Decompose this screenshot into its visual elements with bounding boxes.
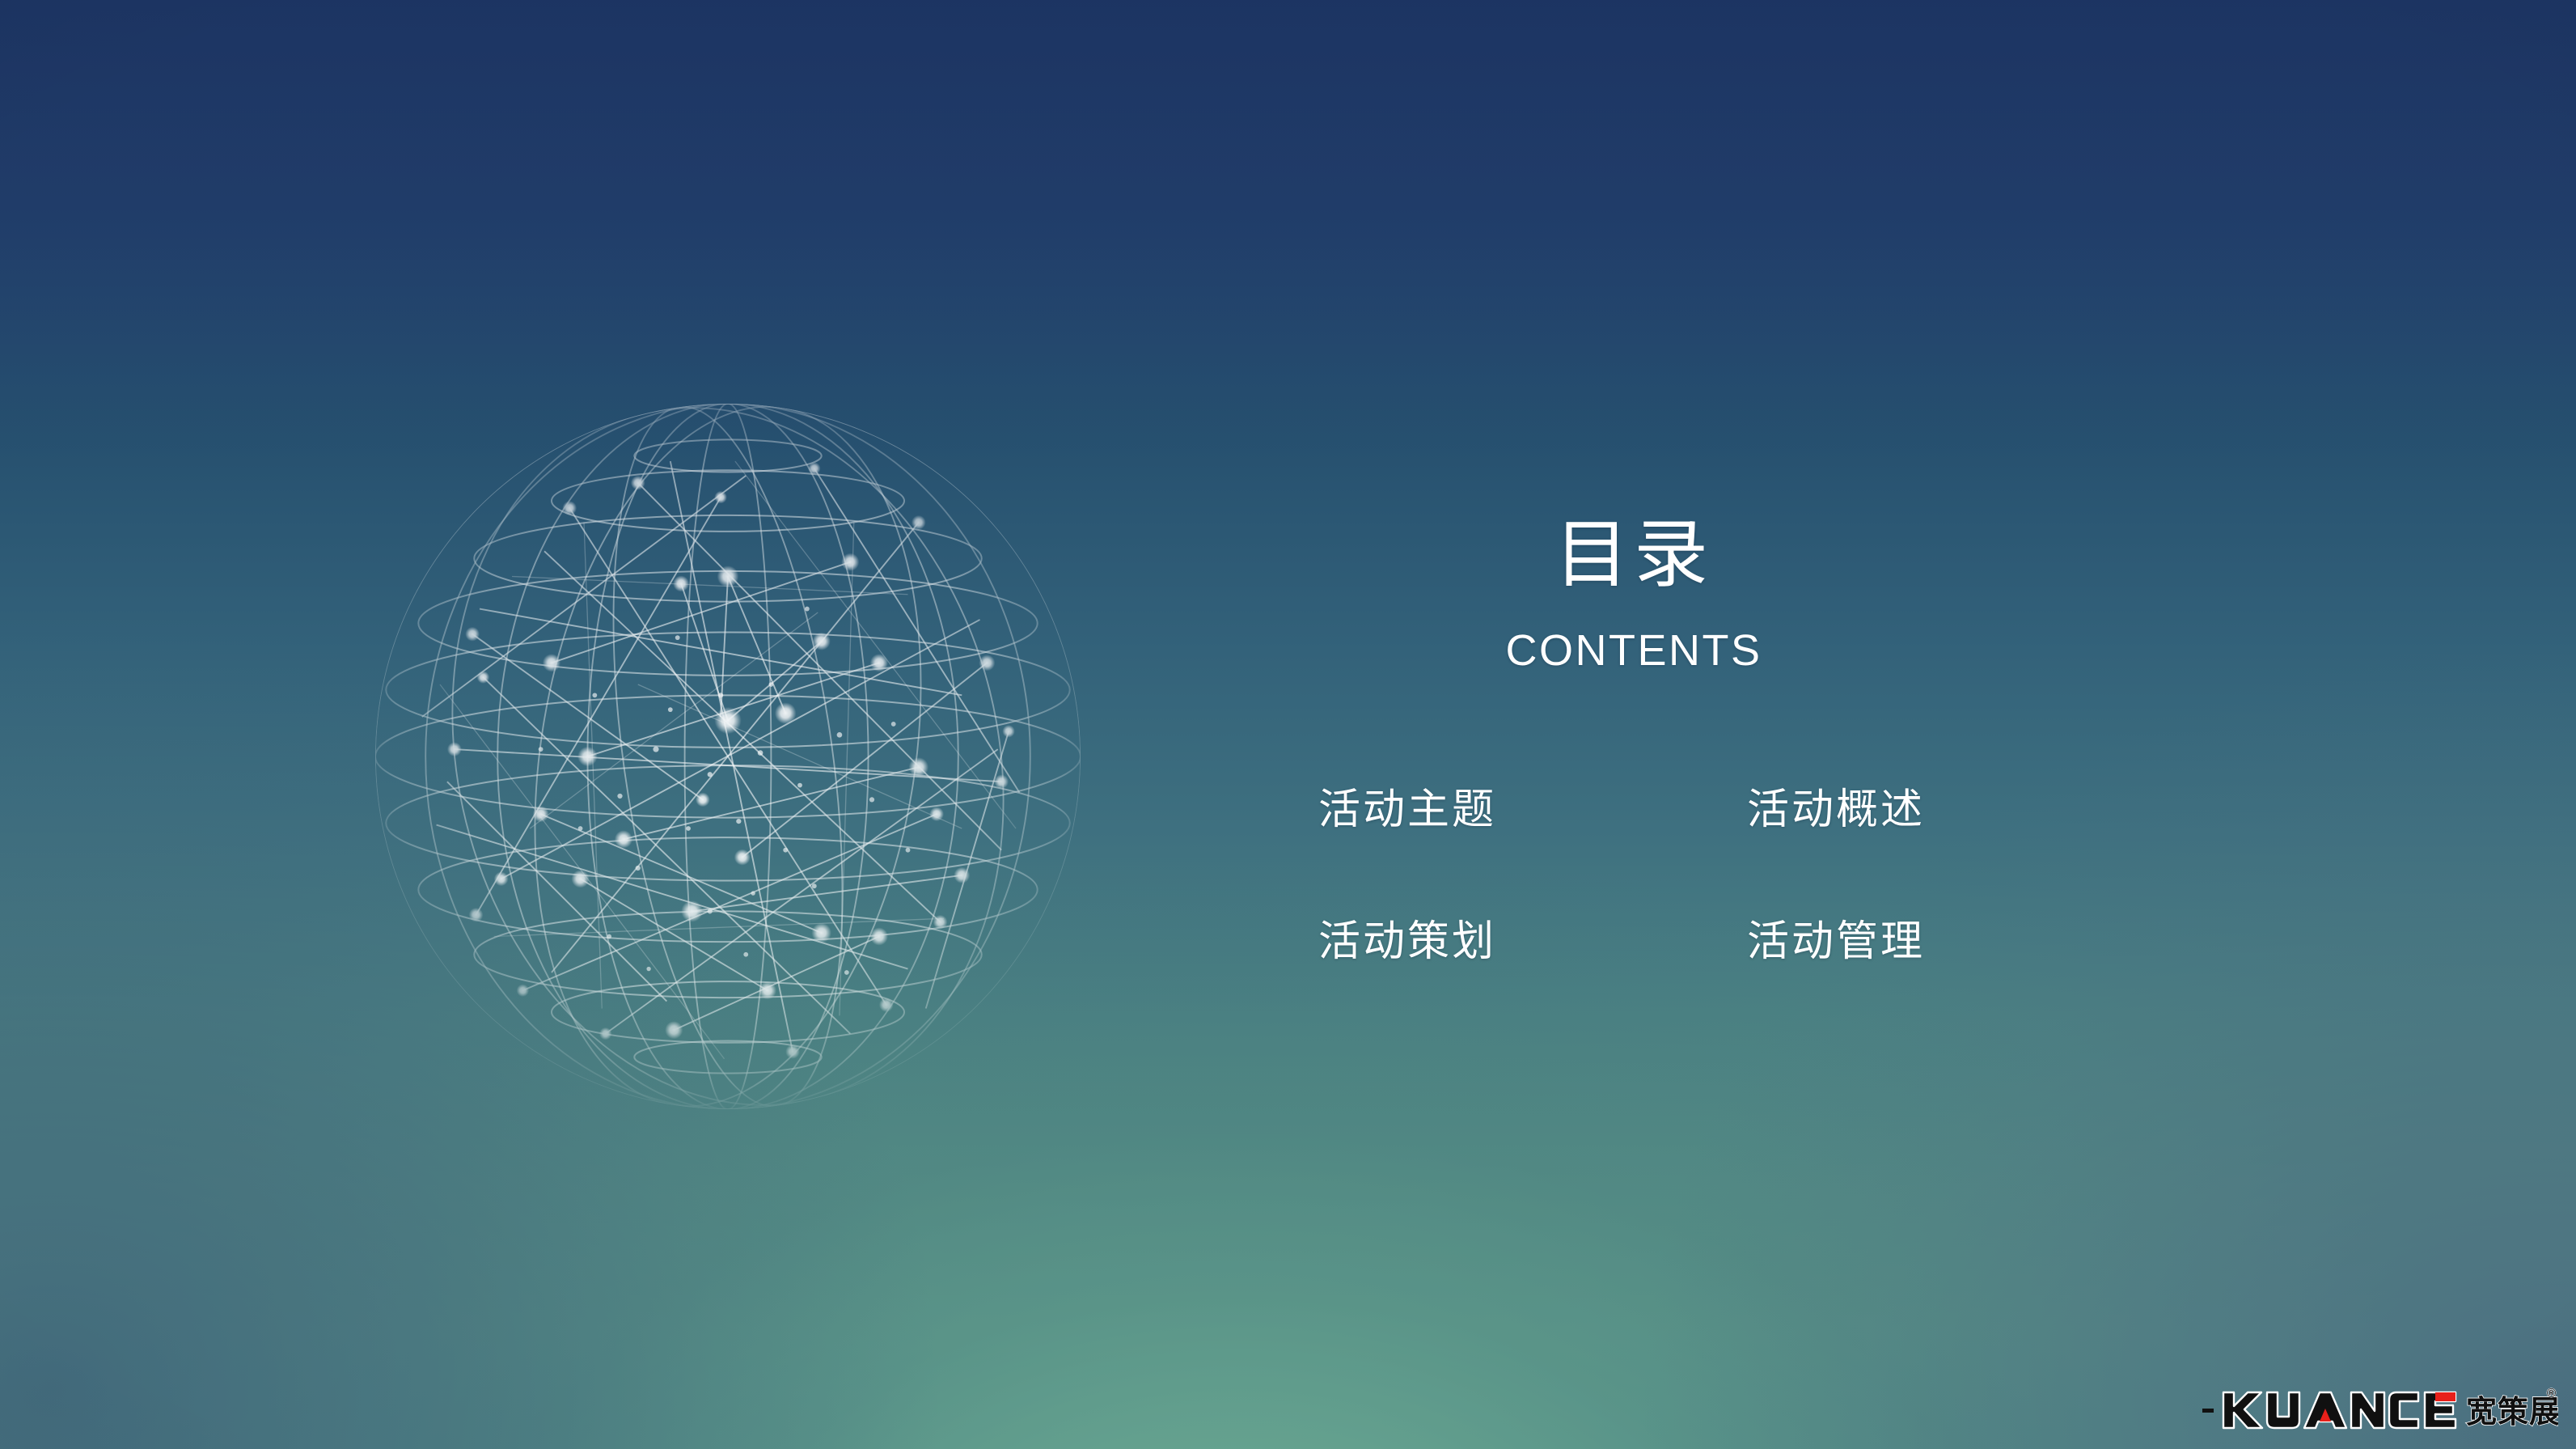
kuance-logo-svg: 宽策展览 ® — [2202, 1384, 2558, 1434]
page-title-cn: 目录 — [1262, 518, 2006, 592]
menu-item-activity-management[interactable]: 活动管理 — [1747, 921, 1933, 963]
menu-item-activity-theme[interactable]: 活动主题 — [1318, 789, 1747, 921]
page-title-en: CONTENTS — [1262, 629, 2006, 672]
logo-dash — [2202, 1409, 2214, 1413]
logo-registered-mark: ® — [2545, 1386, 2557, 1400]
company-logo: 宽策展览 ® — [2202, 1384, 2558, 1434]
logo-red-bar — [2435, 1392, 2455, 1401]
logo-wordmark-latin — [2223, 1392, 2455, 1428]
menu-item-activity-planning[interactable]: 活动策划 — [1318, 921, 1747, 963]
presentation-slide: 目录 CONTENTS 活动主题 活动概述 活动策划 活动管理 — [0, 0, 2576, 1449]
globe-svg — [368, 396, 1088, 1116]
contents-heading-block: 目录 CONTENTS — [1262, 518, 2006, 672]
logo-wordmark-cn: 宽策展览 — [2466, 1394, 2558, 1430]
menu-item-activity-overview[interactable]: 活动概述 — [1747, 789, 1933, 921]
network-globe-graphic — [368, 396, 1088, 1116]
contents-menu-grid: 活动主题 活动概述 活动策划 活动管理 — [1318, 789, 1933, 963]
